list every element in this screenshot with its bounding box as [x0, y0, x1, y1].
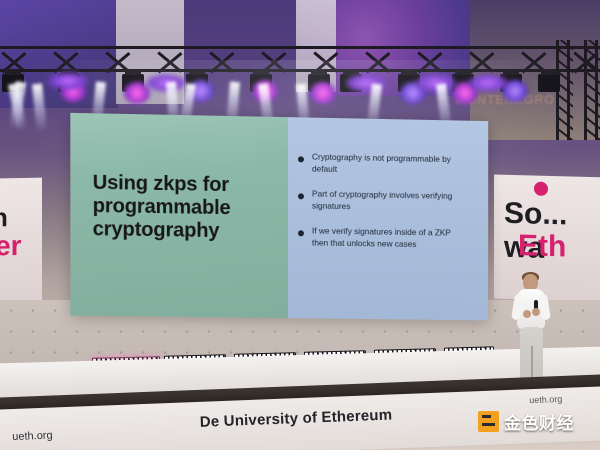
slide-title-panel: Using zkps for programmable cryptography — [70, 113, 288, 318]
banner-right-dot — [534, 182, 548, 196]
banner-right-line-pink: Eth — [518, 229, 566, 264]
speaker-hand-left — [523, 310, 531, 318]
truss-post-far-right — [584, 40, 598, 140]
projected-slide: Using zkps for programmable cryptography… — [70, 113, 488, 321]
watermark: 金色财经 — [478, 409, 574, 434]
watermark-logo-icon — [478, 411, 499, 432]
bullet-dot-icon — [298, 230, 304, 236]
bullet-text: Part of cryptography involves verifying … — [312, 188, 463, 214]
stage-url-right: ueth.org — [529, 394, 562, 405]
bullet-dot-icon — [298, 193, 304, 199]
bullet-text: Cryptography is not programmable by defa… — [312, 152, 463, 178]
bullet-text: If we verify signatures inside of a ZKP … — [312, 225, 463, 251]
speaker-hand-right — [532, 308, 540, 316]
banner-left: n her — [0, 178, 42, 307]
bullet-item: If we verify signatures inside of a ZKP … — [298, 225, 476, 251]
slide-bullet-panel: Cryptography is not programmable by defa… — [288, 117, 488, 320]
stage-url-left: ueth.org — [12, 430, 53, 444]
banner-left-line-pink: her — [0, 230, 22, 263]
bullet-dot-icon — [298, 156, 304, 162]
watermark-text: 金色财经 — [504, 409, 574, 434]
stage-photo-scene: MONTENEGRO — [0, 0, 600, 450]
slide-title: Using zkps for programmable cryptography — [70, 172, 288, 260]
bullet-item: Cryptography is not programmable by defa… — [298, 151, 476, 178]
bullet-item: Part of cryptography involves verifying … — [298, 188, 476, 215]
stage-front-title: De University of Ethereum — [199, 406, 392, 430]
banner-left-line-dark: n — [0, 202, 8, 233]
speaker-leg-separation — [531, 346, 533, 380]
